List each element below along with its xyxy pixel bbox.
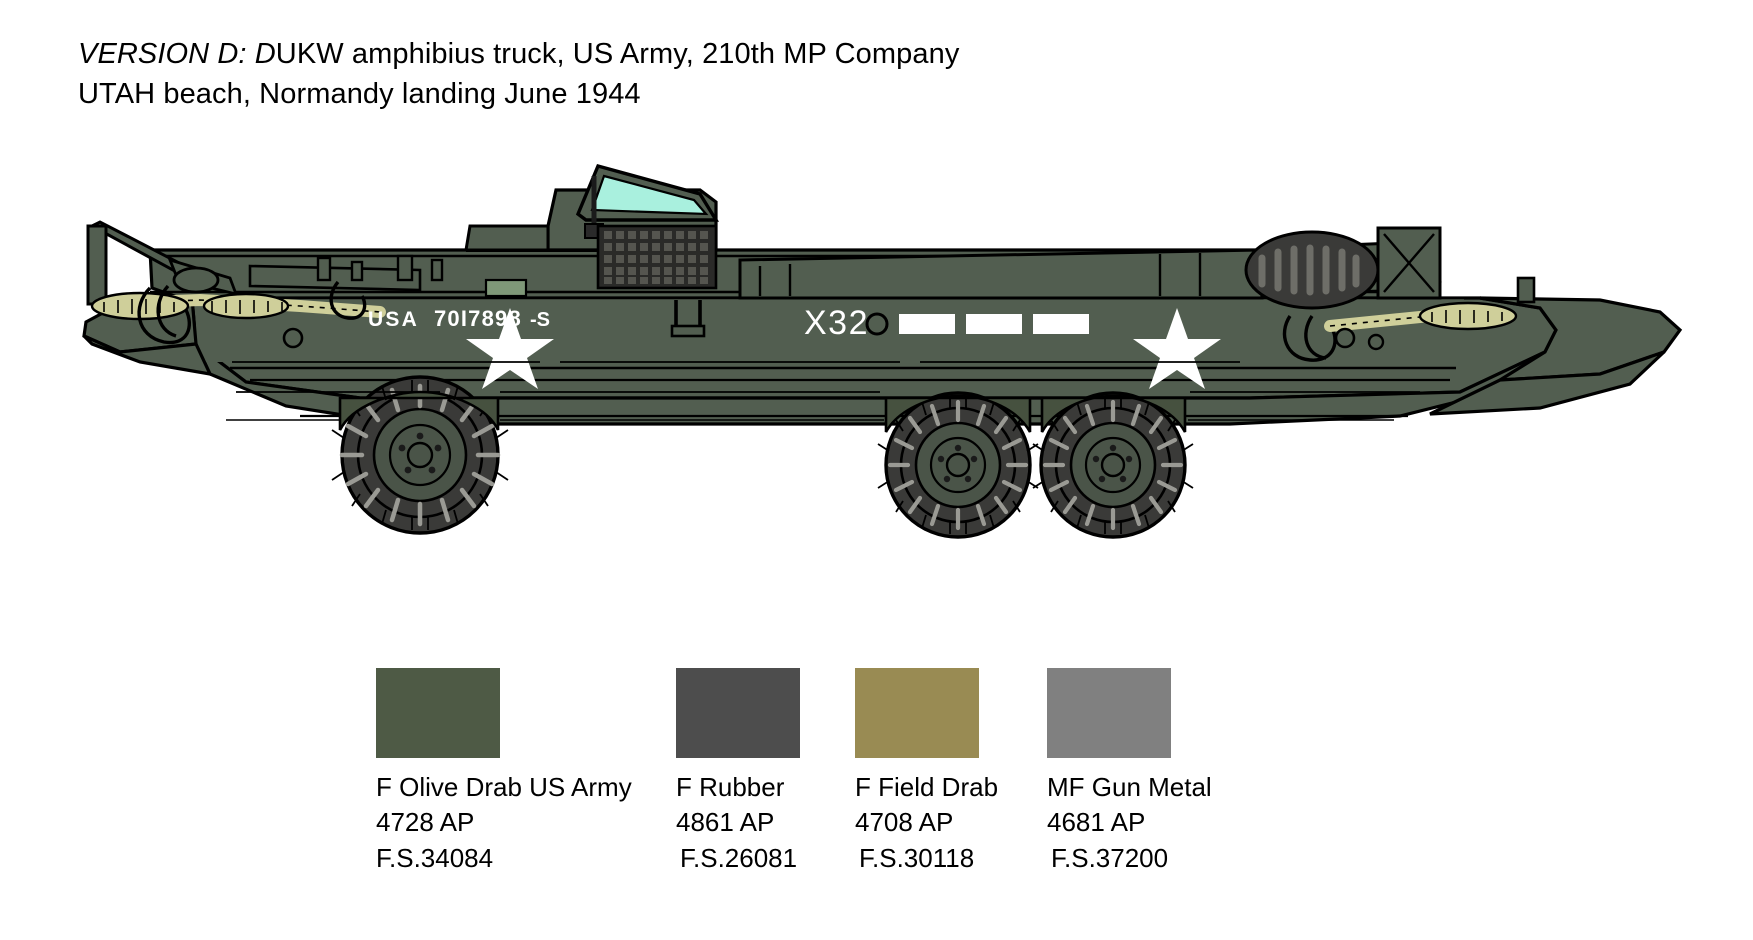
paint-fs-2: F.S.30118 <box>855 840 998 876</box>
marking-bar-3 <box>1033 314 1089 334</box>
paint-entry-2: F Field Drab 4708 AP F.S.30118 <box>855 668 998 876</box>
caption-version-label: VERSION D: D <box>78 38 276 70</box>
dukw-illustration: USA 70I7898 -S X32 <box>0 130 1753 580</box>
caption-line-1-rest: UKW amphibius truck, US Army, 210th MP C… <box>276 38 960 70</box>
caption-line-1: VERSION D: DUKW amphibius truck, US Army… <box>78 34 1378 74</box>
paint-legend: F Olive Drab US Army 4728 AP F.S.34084 F… <box>0 668 1753 918</box>
paint-code-3: 4681 AP <box>1047 804 1212 840</box>
marking-bar-1 <box>899 314 955 334</box>
paint-code-2: 4708 AP <box>855 804 998 840</box>
paint-entry-1: F Rubber 4861 AP F.S.26081 <box>676 668 800 876</box>
marking-bumper-code: X32 <box>804 304 869 342</box>
paint-swatch-0 <box>376 668 500 758</box>
paint-swatch-3 <box>1047 668 1171 758</box>
paint-fs-0: F.S.34084 <box>376 840 632 876</box>
paint-name-1: F Rubber <box>676 770 800 804</box>
paint-code-1: 4861 AP <box>676 804 800 840</box>
version-d-sheet: VERSION D: DUKW amphibius truck, US Army… <box>0 0 1753 940</box>
marking-serial-suffix: -S <box>530 309 550 331</box>
paint-name-3: MF Gun Metal <box>1047 770 1212 804</box>
paint-name-2: F Field Drab <box>855 770 998 804</box>
paint-fs-3: F.S.37200 <box>1047 840 1212 876</box>
paint-code-0: 4728 AP <box>376 804 632 840</box>
marking-serial: USA <box>368 308 419 331</box>
caption-line-2: UTAH beach, Normandy landing June 1944 <box>78 74 1378 114</box>
caption-block: VERSION D: DUKW amphibius truck, US Army… <box>78 34 1378 114</box>
paint-name-0: F Olive Drab US Army <box>376 770 632 804</box>
paint-fs-1: F.S.26081 <box>676 840 800 876</box>
paint-swatch-1 <box>676 668 800 758</box>
paint-swatch-2 <box>855 668 979 758</box>
paint-entry-3: MF Gun Metal 4681 AP F.S.37200 <box>1047 668 1212 876</box>
paint-entry-0: F Olive Drab US Army 4728 AP F.S.34084 <box>376 668 632 876</box>
marking-bar-2 <box>966 314 1022 334</box>
